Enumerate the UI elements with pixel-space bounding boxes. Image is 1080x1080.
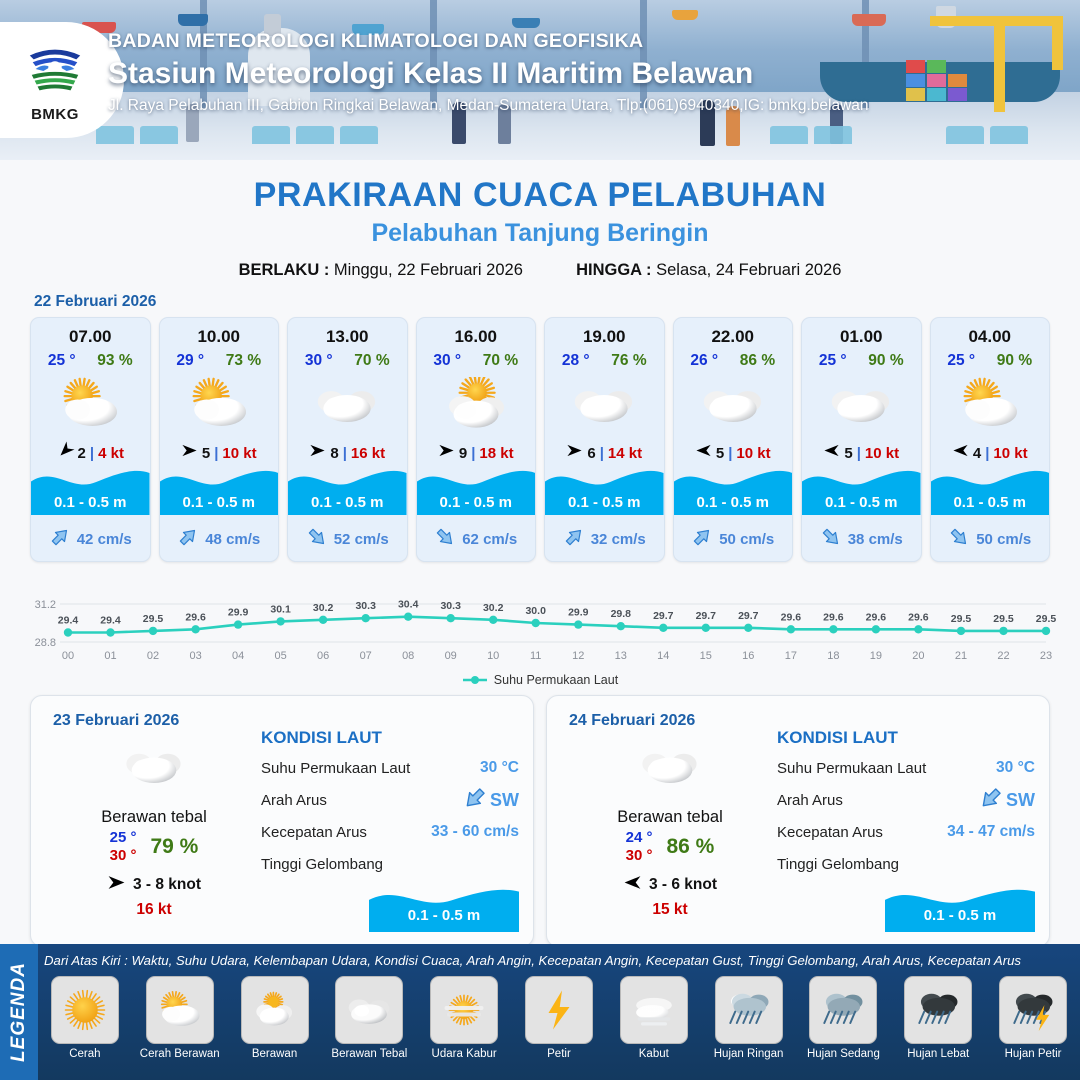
wind-direction-value: 9 [459,445,467,462]
card-temperature: 26 ° [690,352,718,370]
title-block: PRAKIRAAN CUACA PELABUHAN Pelabuhan Tanj… [0,176,1080,280]
card-humidity: 90 % [997,352,1032,370]
forecast-date-label: 22 Februari 2026 [34,293,1080,311]
wind-speed-value: 16 kt [351,445,385,462]
weather-sun-cloud-icon [146,976,214,1044]
daily-summary-panel: 24 Februari 2026 Berawan tebal 24 ° 30 °… [546,695,1050,947]
sea-row-label: Arah Arus [777,792,978,809]
hingga-label: HINGGA : [576,261,651,279]
daily-summary-row: 23 Februari 2026 Berawan tebal 25 ° 30 °… [0,687,1080,947]
sea-row-value: 30 °C [480,759,519,777]
svg-text:29.5: 29.5 [143,613,164,625]
validity-row: BERLAKU : Minggu, 22 Februari 2026 HINGG… [0,261,1080,280]
card-temperature: 30 ° [433,352,461,370]
seat [990,126,1028,144]
wind-separator: | [471,445,475,462]
card-current: 50 cm/s [931,526,1050,553]
sea-row-value: 33 - 60 cm/s [431,823,519,841]
card-temp-humidity: 26 ° 86 % [674,347,793,370]
forecast-card: 16.00 30 ° 70 % 9 | 18 kt 0.1 - 0.5 m [416,317,537,562]
weather-cloud-icon [674,373,793,435]
weather-sun-cloud-icon [160,373,279,435]
wave-height-value: 0.1 - 0.5 m [31,494,150,511]
wind-speed-value: 10 kt [865,445,899,462]
logo-label: BMKG [24,106,86,123]
wind-separator: | [214,445,218,462]
svg-text:29.7: 29.7 [696,610,717,622]
svg-text:29.6: 29.6 [823,611,844,623]
card-temp-humidity: 28 ° 76 % [545,347,664,370]
container-box [906,60,925,73]
sea-row-wave-height: Tinggi Gelombang [261,848,519,880]
container-box [927,88,946,101]
berlaku-label: BERLAKU : [239,261,330,279]
container-box [906,74,925,87]
panel-condition: Berawan tebal [565,808,775,827]
current-speed-value: 50 cm/s [719,531,774,548]
legenda-item: Berawan Tebal [324,976,414,1076]
card-humidity: 90 % [868,352,903,370]
card-temp-humidity: 30 ° 70 % [417,347,536,370]
current-direction-arrow-icon [49,526,71,553]
wind-speed-value: 10 kt [222,445,256,462]
wave-height-value: 0.1 - 0.5 m [417,494,536,511]
legenda-item-label: Berawan [230,1048,320,1060]
panel-wind-range: 3 - 8 knot [133,876,201,894]
card-humidity: 70 % [483,352,518,370]
legenda-item-label: Hujan Sedang [799,1048,889,1060]
current-direction-arrow-icon [177,526,199,553]
wind-direction-arrow-icon [952,442,969,464]
panel-gust: 15 kt [565,901,775,919]
ship-icon [178,14,208,26]
svg-text:18: 18 [827,650,839,662]
svg-text:08: 08 [402,650,414,662]
legenda-note: Dari Atas Kiri : Waktu, Suhu Udara, Kele… [44,953,1074,968]
sea-row-label: Tinggi Gelombang [261,856,519,873]
wave-height-value: 0.1 - 0.5 m [931,494,1050,511]
weather-rain-light-icon [715,976,783,1044]
sea-row-sst: Suhu Permukaan Laut 30 °C [261,752,519,784]
svg-text:05: 05 [274,650,286,662]
seat [96,126,134,144]
container-box [948,88,967,101]
legenda-item-label: Cerah [40,1048,130,1060]
agency-name: BADAN METEOROLOGI KLIMATOLOGI DAN GEOFIS… [108,30,869,53]
sea-row-label: Suhu Permukaan Laut [777,760,996,777]
card-temperature: 29 ° [176,352,204,370]
card-time: 19.00 [545,318,664,347]
card-time: 13.00 [288,318,407,347]
legenda-tab: LEGENDA [0,944,38,1080]
panel-temps: 24 ° 30 ° 86 % [565,829,775,864]
container-box [927,60,946,73]
svg-text:29.7: 29.7 [738,610,759,622]
forecast-card: 22.00 26 ° 86 % 5 | 10 kt 0.1 - 0.5 m 50… [673,317,794,562]
bmkg-emblem-icon [24,38,86,100]
card-humidity: 73 % [226,352,261,370]
wind-separator: | [600,445,604,462]
seat [140,126,178,144]
svg-text:03: 03 [189,650,201,662]
card-current: 52 cm/s [288,526,407,553]
bmkg-logo: BMKG [0,22,124,138]
panel-sea-conditions: KONDISI LAUT Suhu Permukaan Laut 30 °C A… [777,728,1035,880]
wave-height-value: 0.1 - 0.5 m [160,494,279,511]
seat [340,126,378,144]
forecast-card: 19.00 28 ° 76 % 6 | 14 kt 0.1 - 0.5 m 32… [544,317,665,562]
card-wind: 9 | 18 kt [417,441,536,465]
legenda-item-label: Hujan Lebat [893,1048,983,1060]
seat [814,126,852,144]
station-address: Jl. Raya Pelabuhan III, Gabion Ringkai B… [108,97,869,115]
sea-conditions-title: KONDISI LAUT [261,728,519,748]
weather-cloud-icon [565,738,775,794]
card-wind: 4 | 10 kt [931,441,1050,465]
panel-wind-range: 3 - 6 knot [649,876,717,894]
wave-height-value: 0.1 - 0.5 m [288,494,407,511]
legenda-item: Berawan [230,976,320,1076]
card-time: 22.00 [674,318,793,347]
svg-text:29.5: 29.5 [993,613,1014,625]
wave-height-value: 0.1 - 0.5 m [802,494,921,511]
wind-speed-value: 10 kt [993,445,1027,462]
panel-left: Berawan tebal 25 ° 30 ° 79 % 3 - 8 knot … [49,738,259,919]
wind-speed-value: 14 kt [608,445,642,462]
svg-text:17: 17 [785,650,797,662]
legenda-item-label: Udara Kabur [419,1048,509,1060]
wind-direction-value: 8 [330,445,338,462]
daily-summary-panel: 23 Februari 2026 Berawan tebal 25 ° 30 °… [30,695,534,947]
wind-speed-value: 10 kt [736,445,770,462]
card-temperature: 30 ° [305,352,333,370]
svg-text:28.8: 28.8 [35,637,56,649]
card-temperature: 25 ° [48,352,76,370]
current-speed-value: 32 cm/s [591,531,646,548]
hourly-forecast-row: 07.00 25 ° 93 % 2 | 4 kt 0.1 - 0.5 m [0,317,1080,562]
forecast-card: 07.00 25 ° 93 % 2 | 4 kt 0.1 - 0.5 m [30,317,151,562]
legenda-item-label: Berawan Tebal [324,1048,414,1060]
weather-sun-cloud-big-icon [417,373,536,435]
card-temp-humidity: 30 ° 70 % [288,347,407,370]
legenda-item: Hujan Petir [988,976,1078,1076]
svg-text:29.6: 29.6 [866,611,887,623]
svg-text:29.9: 29.9 [228,607,249,619]
card-wind: 5 | 10 kt [674,441,793,465]
wind-direction-arrow-icon [107,873,126,897]
card-temperature: 28 ° [562,352,590,370]
card-current: 48 cm/s [160,526,279,553]
legenda-tab-label: LEGENDA [8,962,30,1062]
sea-row-value: 30 °C [996,759,1035,777]
weather-sun-icon [51,976,119,1044]
legenda-item: Kabut [609,976,699,1076]
weather-cloud-icon [288,373,407,435]
forecast-card: 04.00 25 ° 90 % 4 | 10 kt 0.1 - 0.5 m [930,317,1051,562]
weather-cloud-icon [802,373,921,435]
sea-row-label: Tinggi Gelombang [777,856,1035,873]
legenda-item-label: Kabut [609,1048,699,1060]
wind-direction-arrow-icon [623,873,642,897]
ship-icon [512,18,540,28]
svg-text:30.1: 30.1 [270,603,291,615]
panel-condition: Berawan tebal [49,808,259,827]
container-box [927,74,946,87]
crane-leg [1052,16,1063,70]
sea-row-value: 34 - 47 cm/s [947,823,1035,841]
panel-wind: 3 - 8 knot [49,873,259,897]
card-time: 10.00 [160,318,279,347]
svg-text:30.2: 30.2 [483,602,504,614]
panel-wave-value: 0.1 - 0.5 m [369,907,519,924]
card-humidity: 70 % [354,352,389,370]
wind-direction-arrow-icon [309,442,326,464]
weather-haze-icon [430,976,498,1044]
panel-date: 23 Februari 2026 [31,696,533,730]
svg-text:15: 15 [700,650,712,662]
page-subtitle: Pelabuhan Tanjung Beringin [0,219,1080,248]
svg-text:20: 20 [912,650,924,662]
legenda-item: Petir [514,976,604,1076]
container-box [948,74,967,87]
sst-chart: 31.228.829.40029.40129.50229.60329.90430… [24,576,1056,671]
card-current: 32 cm/s [545,526,664,553]
svg-text:10: 10 [487,650,499,662]
seat [946,126,984,144]
svg-text:04: 04 [232,650,244,662]
svg-text:30.4: 30.4 [398,599,419,611]
wind-speed-value: 18 kt [479,445,513,462]
sea-row-current-direction: Arah Arus SW [261,784,519,816]
current-direction-arrow-icon [820,526,842,553]
sea-row-value: SW [1006,790,1035,811]
legend-marker-icon [462,674,488,686]
panel-humidity: 86 % [666,835,714,859]
weather-sun-cloud-icon [931,373,1050,435]
wave-height-value: 0.1 - 0.5 m [674,494,793,511]
station-name: Stasiun Meteorologi Kelas II Maritim Bel… [108,57,869,91]
current-direction-arrow-icon [462,785,488,816]
card-humidity: 93 % [97,352,132,370]
current-speed-value: 38 cm/s [848,531,903,548]
card-wind: 5 | 10 kt [160,441,279,465]
panel-sea-conditions: KONDISI LAUT Suhu Permukaan Laut 30 °C A… [261,728,519,880]
current-speed-value: 52 cm/s [334,531,389,548]
crane-boom [930,16,1062,26]
wind-separator: | [857,445,861,462]
current-speed-value: 62 cm/s [462,531,517,548]
card-wind: 8 | 16 kt [288,441,407,465]
card-humidity: 86 % [740,352,775,370]
card-current: 50 cm/s [674,526,793,553]
sea-row-current-direction: Arah Arus SW [777,784,1035,816]
legenda-item: Cerah [40,976,130,1076]
legenda-section: LEGENDA Dari Atas Kiri : Waktu, Suhu Uda… [0,944,1080,1080]
card-temperature: 25 ° [819,352,847,370]
page-header: BMKG BADAN METEOROLOGI KLIMATOLOGI DAN G… [0,0,1080,160]
svg-text:07: 07 [360,650,372,662]
svg-text:29.4: 29.4 [100,615,121,627]
wind-separator: | [985,445,989,462]
sea-row-label: Kecepatan Arus [777,824,947,841]
weather-cloud-sun-small-icon [241,976,309,1044]
hingga-value: Selasa, 24 Februari 2026 [656,261,841,279]
current-direction-arrow-icon [691,526,713,553]
card-wind: 6 | 14 kt [545,441,664,465]
weather-cloud-icon [49,738,259,794]
sea-row-sst: Suhu Permukaan Laut 30 °C [777,752,1035,784]
panel-temp-min: 24 ° [626,829,653,846]
ship-icon [852,14,886,26]
ship-icon [672,10,698,20]
forecast-card: 01.00 25 ° 90 % 5 | 10 kt 0.1 - 0.5 m 38… [801,317,922,562]
svg-text:02: 02 [147,650,159,662]
card-wind: 2 | 4 kt [31,441,150,465]
current-speed-value: 48 cm/s [205,531,260,548]
forecast-card: 13.00 30 ° 70 % 8 | 16 kt 0.1 - 0.5 m 52… [287,317,408,562]
wind-direction-value: 5 [716,445,724,462]
wind-direction-arrow-icon [566,442,583,464]
legenda-item: Cerah Berawan [135,976,225,1076]
svg-text:22: 22 [997,650,1009,662]
container-box [906,88,925,101]
wind-direction-arrow-icon [57,442,74,464]
wind-direction-value: 2 [78,445,86,462]
card-current: 42 cm/s [31,526,150,553]
svg-text:09: 09 [445,650,457,662]
panel-wave-value: 0.1 - 0.5 m [885,907,1035,924]
legenda-item: Udara Kabur [419,976,509,1076]
legenda-item: Hujan Lebat [893,976,983,1076]
legenda-item-label: Petir [514,1048,604,1060]
legenda-item-label: Hujan Petir [988,1048,1078,1060]
card-temp-humidity: 25 ° 90 % [802,347,921,370]
panel-temp-max: 30 ° [110,847,137,864]
svg-text:06: 06 [317,650,329,662]
weather-fog-icon [620,976,688,1044]
weather-rain-heavy-icon [904,976,972,1044]
wind-separator: | [90,445,94,462]
forecast-card: 10.00 29 ° 73 % 5 | 10 kt 0.1 - 0.5 m [159,317,280,562]
svg-text:14: 14 [657,650,669,662]
current-direction-arrow-icon [306,526,328,553]
sst-chart-svg: 31.228.829.40029.40129.50229.60329.90430… [24,576,1056,668]
sea-row-label: Arah Arus [261,792,462,809]
card-time: 01.00 [802,318,921,347]
panel-left: Berawan tebal 24 ° 30 ° 86 % 3 - 6 knot … [565,738,775,919]
berlaku-value: Minggu, 22 Februari 2026 [334,261,523,279]
card-current: 38 cm/s [802,526,921,553]
wind-direction-value: 4 [973,445,981,462]
current-direction-arrow-icon [978,785,1004,816]
card-temp-humidity: 25 ° 90 % [931,347,1050,370]
wind-direction-arrow-icon [181,442,198,464]
card-wind: 5 | 10 kt [802,441,921,465]
current-speed-value: 42 cm/s [77,531,132,548]
wind-speed-value: 4 kt [98,445,124,462]
seat [296,126,334,144]
svg-text:00: 00 [62,650,74,662]
sea-row-wave-height: Tinggi Gelombang [777,848,1035,880]
card-temperature: 25 ° [947,352,975,370]
panel-wind: 3 - 6 knot [565,873,775,897]
svg-text:31.2: 31.2 [35,599,56,611]
current-direction-arrow-icon [434,526,456,553]
panel-date: 24 Februari 2026 [547,696,1049,730]
sea-row-label: Kecepatan Arus [261,824,431,841]
svg-text:29.9: 29.9 [568,607,589,619]
svg-text:29.6: 29.6 [185,611,206,623]
legenda-item: Hujan Sedang [799,976,889,1076]
seat [770,126,808,144]
sea-conditions-title: KONDISI LAUT [777,728,1035,748]
wind-direction-value: 5 [844,445,852,462]
svg-text:23: 23 [1040,650,1052,662]
card-temp-humidity: 25 ° 93 % [31,347,150,370]
legenda-item-label: Hujan Ringan [704,1048,794,1060]
svg-text:29.6: 29.6 [908,611,929,623]
wind-direction-value: 5 [202,445,210,462]
wave-height-value: 0.1 - 0.5 m [545,494,664,511]
wind-direction-arrow-icon [823,442,840,464]
legend-label: Suhu Permukaan Laut [494,673,618,687]
card-time: 04.00 [931,318,1050,347]
weather-rain-moderate-icon [809,976,877,1044]
svg-text:29.4: 29.4 [58,615,79,627]
svg-text:29.8: 29.8 [611,608,632,620]
svg-text:19: 19 [870,650,882,662]
svg-text:29.7: 29.7 [653,610,674,622]
svg-text:29.5: 29.5 [951,613,972,625]
wind-separator: | [728,445,732,462]
panel-temp-min: 25 ° [110,829,137,846]
header-text-block: BADAN METEOROLOGI KLIMATOLOGI DAN GEOFIS… [108,30,869,115]
svg-text:30.0: 30.0 [525,605,546,617]
svg-text:30.2: 30.2 [313,602,334,614]
chart-legend: Suhu Permukaan Laut [0,673,1080,687]
seat [252,126,290,144]
card-current: 62 cm/s [417,526,536,553]
weather-cloud-icon [545,373,664,435]
card-time: 07.00 [31,318,150,347]
svg-text:01: 01 [104,650,116,662]
card-time: 16.00 [417,318,536,347]
panel-gust: 16 kt [49,901,259,919]
svg-text:30.3: 30.3 [355,600,376,612]
panel-humidity: 79 % [150,835,198,859]
svg-text:29.6: 29.6 [781,611,802,623]
svg-text:29.5: 29.5 [1036,613,1056,625]
sea-row-value: SW [490,790,519,811]
current-speed-value: 50 cm/s [976,531,1031,548]
weather-rain-thunder-icon [999,976,1067,1044]
legenda-items: Cerah Cerah Berawan Berawan [40,976,1078,1076]
card-humidity: 76 % [611,352,646,370]
panel-temps: 25 ° 30 ° 79 % [49,829,259,864]
sea-row-current-speed: Kecepatan Arus 33 - 60 cm/s [261,816,519,848]
svg-text:12: 12 [572,650,584,662]
svg-text:16: 16 [742,650,754,662]
wind-direction-arrow-icon [695,442,712,464]
sea-row-current-speed: Kecepatan Arus 34 - 47 cm/s [777,816,1035,848]
legenda-item: Hujan Ringan [704,976,794,1076]
wind-direction-value: 6 [587,445,595,462]
weather-sun-cloud-icon [31,373,150,435]
page-title: PRAKIRAAN CUACA PELABUHAN [0,176,1080,215]
weather-cloud-thick-icon [335,976,403,1044]
wind-direction-arrow-icon [438,442,455,464]
svg-text:13: 13 [615,650,627,662]
